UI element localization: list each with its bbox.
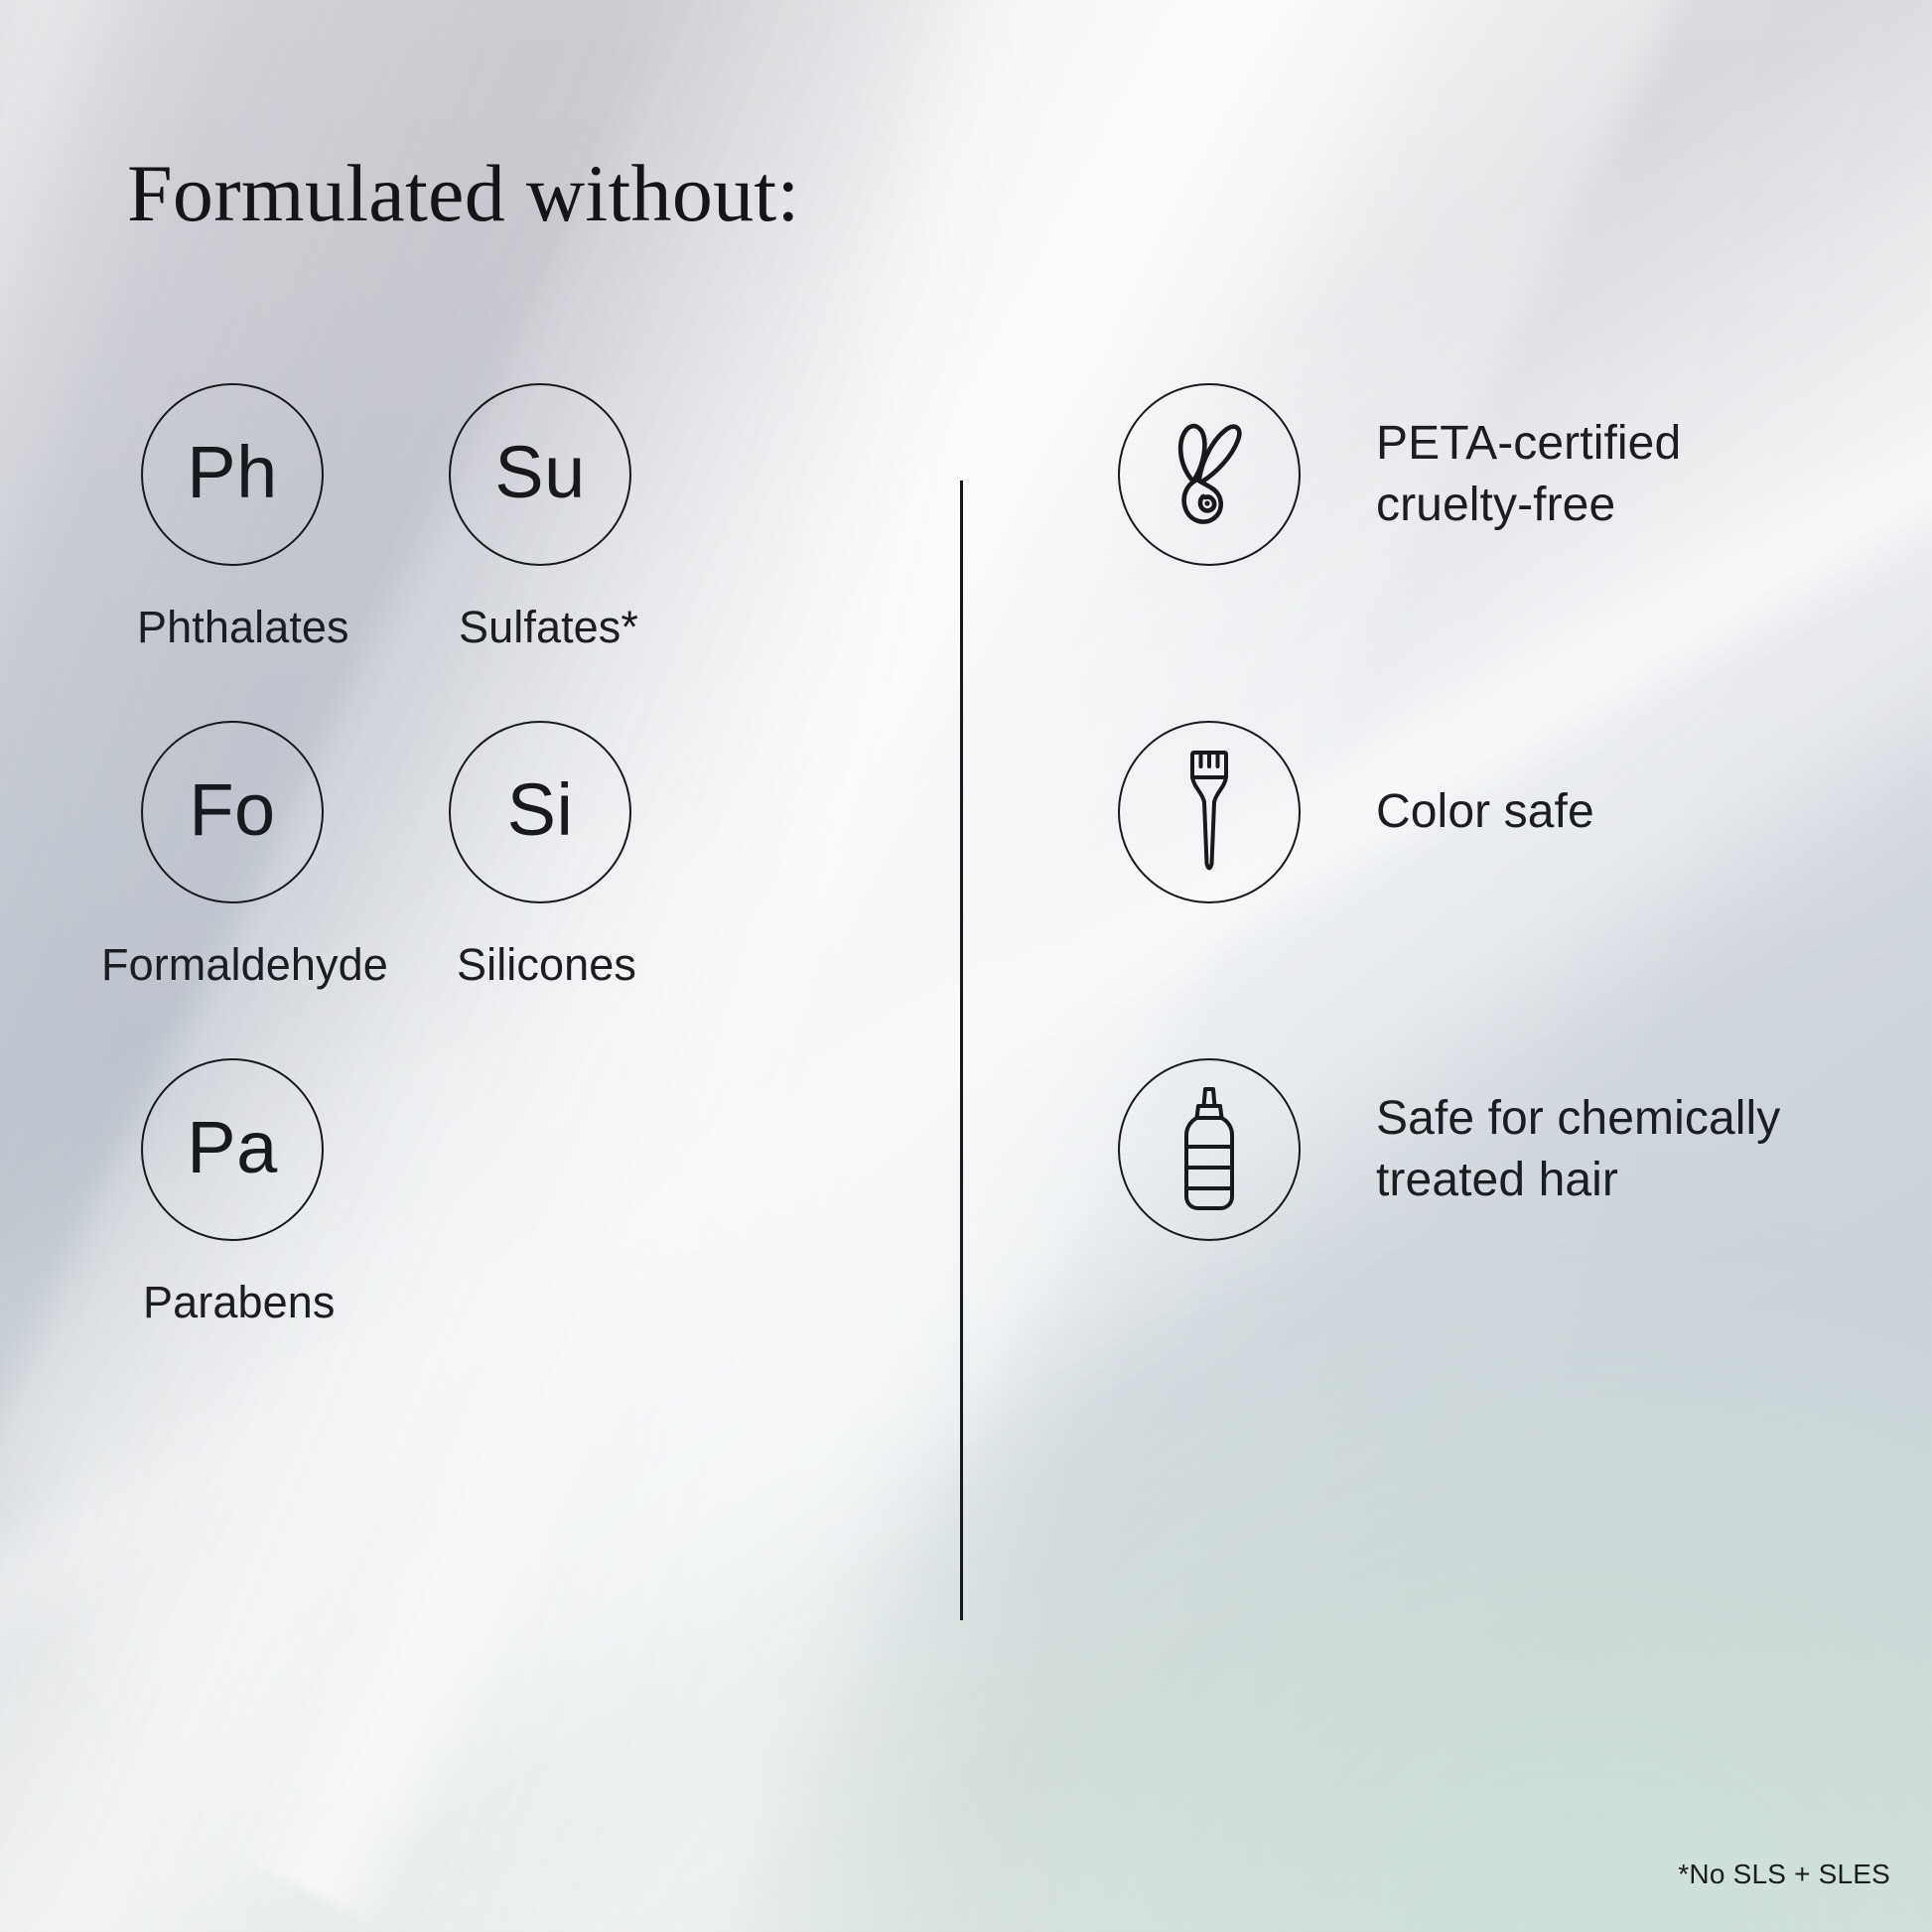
abbr-circle-phthalates: Ph	[141, 383, 324, 566]
footnote: *No SLS + SLES	[1678, 1859, 1890, 1890]
ingredient-name: Formaldehyde	[101, 939, 479, 991]
abbr-circle-sulfates: Su	[449, 383, 631, 566]
claim-color-safe: Color safe	[1118, 721, 1594, 903]
avoid-item-formaldehyde: Fo Formaldehyde	[141, 721, 479, 991]
hair-brush-icon	[1173, 747, 1246, 878]
claim-label: PETA-certified cruelty-free	[1376, 413, 1681, 537]
infographic-canvas: Formulated without: Ph Phthalates Su Sul…	[0, 0, 1932, 1932]
abbr-circle-parabens: Pa	[141, 1058, 324, 1241]
claim-label: Color safe	[1376, 781, 1594, 843]
squeeze-bottle-icon	[1172, 1085, 1247, 1214]
ingredient-name: Silicones	[457, 939, 786, 991]
rabbit-icon	[1158, 417, 1261, 532]
claim-chemically-treated-safe: Safe for chemically treated hair	[1118, 1058, 1780, 1241]
page-title: Formulated without:	[127, 147, 800, 240]
abbr-label: Pa	[187, 1111, 278, 1184]
ingredient-name: Parabens	[143, 1277, 479, 1328]
ingredient-name: Sulfates*	[459, 602, 786, 653]
avoid-item-silicones: Si Silicones	[449, 721, 786, 991]
avoid-item-parabens: Pa Parabens	[141, 1058, 479, 1328]
abbr-label: Su	[494, 436, 586, 509]
claim-label: Safe for chemically treated hair	[1376, 1088, 1780, 1212]
abbr-label: Si	[507, 773, 574, 847]
avoid-item-sulfates: Su Sulfates*	[449, 383, 786, 653]
claim-peta-certified: PETA-certified cruelty-free	[1118, 383, 1681, 566]
hair-brush-icon-circle	[1118, 721, 1301, 903]
squeeze-bottle-icon-circle	[1118, 1058, 1301, 1241]
abbr-circle-silicones: Si	[449, 721, 631, 903]
abbr-circle-formaldehyde: Fo	[141, 721, 324, 903]
ingredient-name: Phthalates	[137, 602, 479, 653]
section-divider	[960, 481, 963, 1620]
avoid-item-phthalates: Ph Phthalates	[141, 383, 479, 653]
rabbit-icon-circle	[1118, 383, 1301, 566]
abbr-label: Ph	[187, 436, 278, 509]
abbr-label: Fo	[189, 773, 275, 847]
